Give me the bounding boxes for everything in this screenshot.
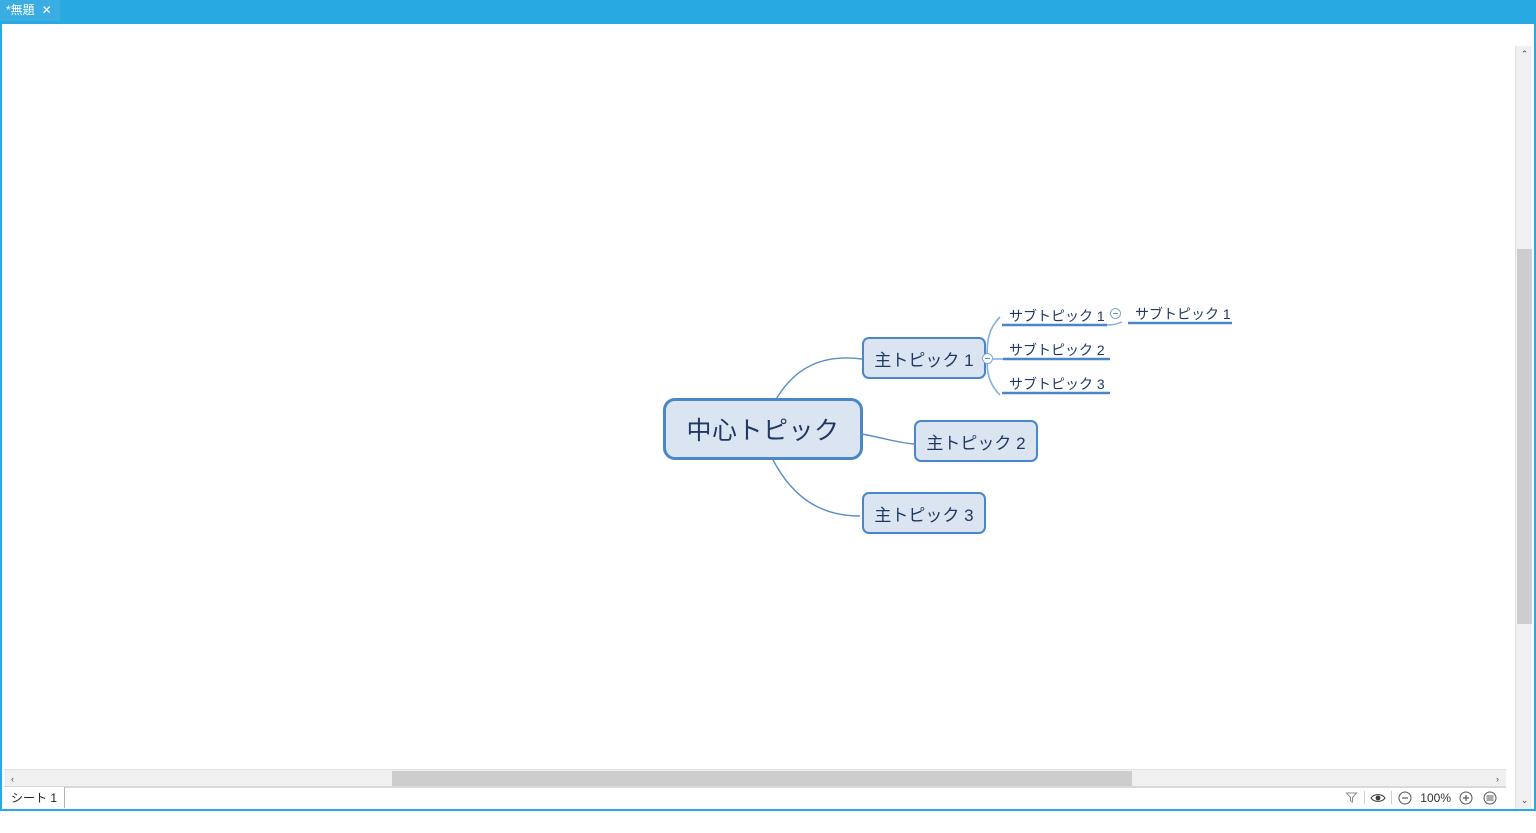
node-subtopic-3-label: サブトピック 3	[1009, 376, 1105, 392]
scroll-down-icon[interactable]: ⌄	[1516, 792, 1533, 809]
connector-bracket-bottom	[987, 359, 1000, 395]
status-bar: シート 1	[4, 786, 1506, 807]
eye-icon[interactable]	[1366, 787, 1390, 808]
editor-frame: 中心トピック 主トピック 1 主トピック 2 主トピック 3 サブトピック 1 …	[0, 21, 1536, 811]
document-tab[interactable]: *無題 ✕	[0, 0, 60, 21]
horizontal-scrollbar[interactable]: ‹ ›	[4, 769, 1506, 786]
mindmap-canvas[interactable]: 中心トピック 主トピック 1 主トピック 2 主トピック 3 サブトピック 1 …	[4, 46, 1506, 809]
zoom-out-button[interactable]	[1393, 787, 1417, 808]
node-main-topic-2[interactable]: 主トピック 2	[914, 420, 1038, 462]
sheet-bar-empty-area	[65, 787, 1506, 807]
application-window: *無題 ✕	[0, 0, 1536, 833]
sheet-tab-1-label: シート 1	[11, 789, 57, 806]
zoom-level-label: 100%	[1417, 791, 1454, 805]
menu-icon[interactable]	[1478, 787, 1502, 808]
connector-central-to-main1	[774, 358, 862, 403]
node-main-topic-3-label: 主トピック 3	[874, 501, 973, 526]
node-subtopic-2-label: サブトピック 2	[1009, 342, 1105, 358]
status-bar-controls: 100%	[1339, 787, 1506, 808]
filter-icon[interactable]	[1339, 787, 1363, 808]
connector-central-to-main3	[772, 458, 860, 516]
node-main-topic-1[interactable]: 主トピック 1	[862, 337, 986, 379]
node-central-topic-label: 中心トピック	[686, 411, 839, 447]
status-separator-2	[1391, 791, 1392, 804]
horizontal-scrollbar-thumb[interactable]	[392, 771, 1132, 786]
scroll-up-icon[interactable]: ⌃	[1516, 46, 1533, 63]
node-main-topic-3[interactable]: 主トピック 3	[862, 492, 986, 534]
node-subtopic-1-label: サブトピック 1	[1009, 308, 1105, 324]
document-tab-label: *無題	[6, 0, 35, 21]
node-subtopic-1[interactable]: サブトピック 1	[1009, 306, 1105, 326]
scroll-right-icon[interactable]: ›	[1489, 770, 1506, 787]
scroll-left-icon[interactable]: ‹	[4, 770, 21, 787]
node-subtopic-3[interactable]: サブトピック 3	[1009, 374, 1105, 394]
tab-bar: *無題 ✕	[0, 0, 1536, 21]
vertical-scrollbar[interactable]: ⌃ ⌄	[1515, 46, 1532, 809]
sheet-tab-1[interactable]: シート 1	[4, 787, 65, 808]
close-icon[interactable]: ✕	[42, 0, 52, 21]
connector-central-to-main2	[862, 434, 914, 444]
node-grandchild-subtopic-1-label: サブトピック 1	[1135, 306, 1231, 322]
connector-sub1-to-child	[1107, 322, 1122, 325]
vertical-scrollbar-thumb[interactable]	[1517, 249, 1532, 624]
status-separator-1	[1364, 791, 1365, 804]
node-grandchild-subtopic-1[interactable]: サブトピック 1	[1135, 304, 1231, 324]
node-central-topic[interactable]: 中心トピック	[663, 398, 863, 460]
node-main-topic-2-label: 主トピック 2	[926, 429, 1025, 454]
collapse-toggle-subtopic-1[interactable]	[1110, 308, 1121, 319]
node-main-topic-1-label: 主トピック 1	[874, 346, 973, 371]
node-subtopic-2[interactable]: サブトピック 2	[1009, 340, 1105, 360]
zoom-in-button[interactable]	[1454, 787, 1478, 808]
collapse-toggle-main-topic-1[interactable]	[982, 353, 993, 364]
